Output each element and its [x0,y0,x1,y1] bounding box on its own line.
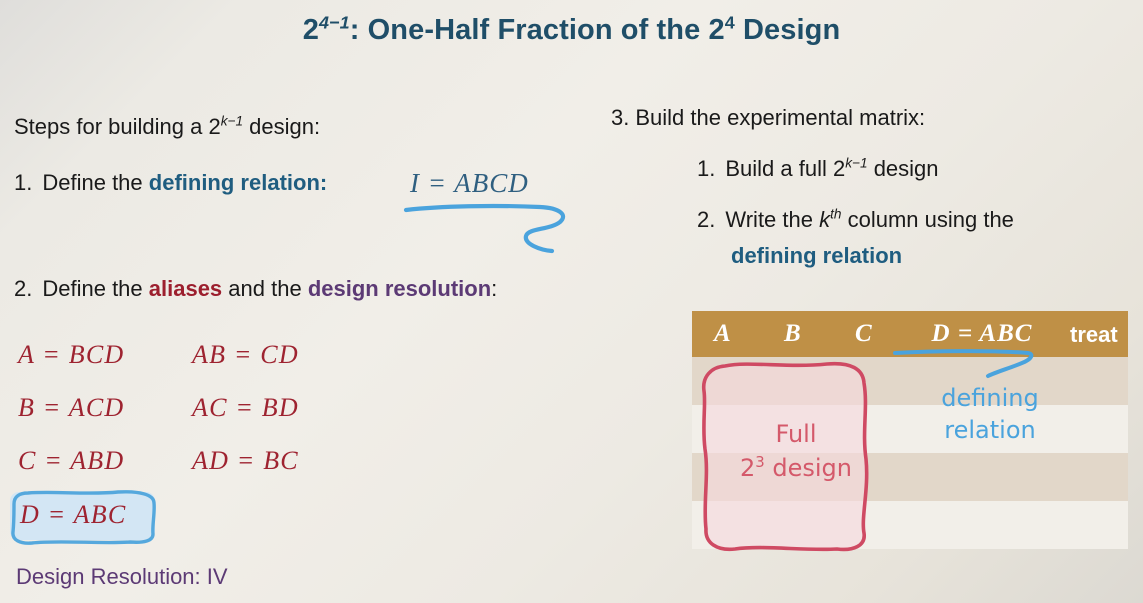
table-row [692,501,1128,549]
step-2-text-mid: and the [222,276,308,301]
step-2: 2.Define the aliases and the design reso… [14,276,497,302]
step-1-keyword: defining relation: [149,170,327,195]
step-3-sub-1-number: 1. [697,156,715,181]
table-header-d-equals-abc: D = ABC [902,320,1062,348]
alias-ab: AB = CD [192,340,299,370]
alias-ac: AC = BD [192,393,299,423]
table-header-c: C [855,320,873,348]
table-row [692,357,1128,405]
step-3-number: 3. [611,105,629,130]
step-2-keyword-aliases: aliases [149,276,222,301]
step-3-sub-2-k: k [819,207,830,232]
step-2-text-after: : [491,276,497,301]
slide-canvas: 24−1: One-Half Fraction of the 24 Design… [0,0,1143,603]
step-3-sub-1-text-b: design [868,156,939,181]
step-2-text-before: Define the [42,276,148,301]
step-3-sub-2-number: 2. [697,207,715,232]
design-resolution-label: Design Resolution: IV [16,564,228,590]
steps-heading: Steps for building a 2k−1 design: [14,114,320,140]
step-2-number: 2. [14,276,32,301]
step-3-sub-1-exponent: k−1 [845,156,867,171]
table-header-a: A [714,320,732,348]
step-1: 1.Define the defining relation: [14,170,327,196]
steps-heading-exponent: k−1 [221,114,243,129]
step-3-sub-2-text-b: column using the [841,207,1013,232]
blue-underline-curl-annotation [400,196,575,258]
highlighted-alias-equation: D = ABC [20,500,126,530]
step-2-keyword-resolution: design resolution [308,276,491,301]
step-3-sub-2-keyword: defining relation [731,243,902,269]
alias-c: C = ABD [18,446,124,476]
step-3-text: Build the experimental matrix: [635,105,925,130]
title-suffix: Design [735,14,840,46]
page-title: 24−1: One-Half Fraction of the 24 Design [0,14,1143,47]
step-3: 3.Build the experimental matrix: [611,105,925,131]
steps-heading-part-a: Steps for building a 2 [14,114,221,139]
title-base: 2 [303,14,319,46]
step-1-text: Define the [42,170,148,195]
table-row [692,405,1128,453]
table-header-treat: treat [1070,322,1118,348]
step-3-sub-2-k-exponent: th [830,207,841,222]
alias-a: A = BCD [18,340,124,370]
table-row [692,453,1128,501]
step-3-sub-2-text-a: Write the [725,207,819,232]
table-header-b: B [784,320,802,348]
experimental-matrix-table: A B C D = ABC treat Full 23 design defin… [692,311,1128,550]
title-middle: : One-Half Fraction of the 2 [350,14,725,46]
title-exponent-2: 4 [725,12,735,32]
step-3-sub-1-text-a: Build a full 2 [725,156,845,181]
alias-b: B = ACD [18,393,124,423]
defining-relation-equation: I = ABCD [410,168,529,199]
step-1-number: 1. [14,170,32,195]
steps-heading-part-b: design: [243,114,320,139]
step-3-sub-1: 1.Build a full 2k−1 design [697,156,939,182]
step-3-sub-2: 2.Write the kth column using the [697,207,1014,233]
title-exponent: 4−1 [319,12,350,32]
alias-ad: AD = BC [192,446,299,476]
